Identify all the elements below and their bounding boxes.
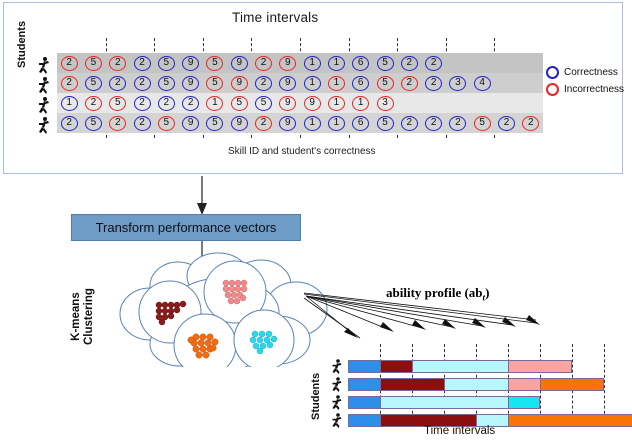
matrix-cell: [519, 53, 543, 73]
matrix-row: 12522215599113: [57, 93, 543, 113]
correct-skill-marker: 2: [255, 76, 272, 91]
correct-skill-marker: 5: [377, 56, 394, 71]
top-time-intervals-title: Time intervals: [232, 10, 318, 25]
ability-bar-segment: [444, 378, 508, 391]
correct-skill-marker: 1: [328, 116, 345, 131]
matrix-cell: 9: [178, 73, 202, 93]
matrix-cell: [421, 93, 445, 113]
ability-bar-segment: [508, 414, 632, 427]
ability-bar-segment: [508, 396, 540, 409]
correct-skill-marker: 5: [255, 96, 272, 111]
matrix-cell: 2: [421, 73, 445, 93]
incorrect-skill-marker: 5: [206, 56, 223, 71]
matrix-cell: 2: [57, 73, 81, 93]
matrix-cell: 2: [251, 113, 275, 133]
matrix-cell: 1: [349, 93, 373, 113]
matrix-cell: 5: [154, 73, 178, 93]
matrix-row: 2522595929116522: [57, 53, 543, 73]
matrix-cell: 2: [178, 93, 202, 113]
incorrect-skill-marker: 3: [377, 96, 394, 111]
correct-skill-marker: 3: [449, 76, 466, 91]
ability-profile-title: ability profile (abt): [386, 285, 489, 303]
ability-bar-segment: [540, 378, 604, 391]
incorrect-skill-marker: 1: [328, 76, 345, 91]
matrix-cell: [494, 93, 518, 113]
correct-skill-marker: 5: [85, 116, 102, 131]
matrix-cell: 2: [251, 53, 275, 73]
cluster-bubble-4: [234, 310, 294, 367]
matrix-cell: [494, 73, 518, 93]
bottom-time-intervals-label: Time intervals: [424, 425, 495, 437]
matrix-caption: Skill ID and student's correctness: [228, 146, 376, 157]
matrix-cell: 9: [178, 113, 202, 133]
matrix-cell: 2: [106, 53, 130, 73]
matrix-cell: 2: [446, 113, 470, 133]
matrix-cell: 5: [154, 113, 178, 133]
matrix-cell: [470, 53, 494, 73]
ability-bar-segment: [348, 396, 380, 409]
matrix-cell: 2: [519, 113, 543, 133]
matrix-cell: 1: [300, 113, 324, 133]
blue-circle-icon: [546, 66, 559, 79]
matrix-cell: 1: [57, 93, 81, 113]
matrix-cell: 5: [227, 93, 251, 113]
correct-skill-marker: 9: [231, 116, 248, 131]
matrix-cell: 9: [300, 93, 324, 113]
matrix-cell: 1: [300, 53, 324, 73]
incorrect-skill-marker: 2: [109, 56, 126, 71]
matrix-cell: 5: [203, 73, 227, 93]
matrix-cell: [397, 93, 421, 113]
correct-skill-marker: 6: [352, 56, 369, 71]
bottom-students-axis-label: Students: [310, 373, 322, 420]
top-student-icon-column: [35, 55, 51, 144]
incorrect-skill-marker: 5: [206, 76, 223, 91]
correct-skill-marker: 9: [279, 116, 296, 131]
correct-skill-marker: 1: [304, 76, 321, 91]
matrix-cell: 9: [227, 113, 251, 133]
ability-bar-segment: [508, 360, 572, 373]
ability-bar-row: [348, 396, 632, 409]
fan-arrowheads: [344, 315, 540, 338]
matrix-cell: 5: [203, 113, 227, 133]
legend-label-incorrectness: Incorrectness: [564, 84, 624, 95]
correctness-legend: Correctness Incorrectness: [546, 64, 624, 98]
correct-skill-marker: 9: [182, 56, 199, 71]
correct-skill-marker: 2: [134, 116, 151, 131]
matrix-cell: 2: [57, 53, 81, 73]
runner-icon-group-bottom: [328, 358, 344, 434]
matrix-cell: 6: [349, 53, 373, 73]
incorrect-skill-marker: 5: [474, 116, 491, 131]
incorrect-skill-marker: 5: [377, 76, 394, 91]
matrix-cell: 6: [349, 113, 373, 133]
correct-skill-marker: 9: [182, 116, 199, 131]
correct-skill-marker: 4: [474, 76, 491, 91]
matrix-cell: 3: [446, 73, 470, 93]
matrix-cell: 5: [203, 53, 227, 73]
legend-label-correctness: Correctness: [564, 67, 618, 78]
matrix-cell: 2: [81, 93, 105, 113]
matrix-cell: 2: [154, 93, 178, 113]
correct-skill-marker: 2: [134, 96, 151, 111]
matrix-cell: 1: [300, 73, 324, 93]
correct-skill-marker: 2: [425, 56, 442, 71]
matrix-cell: 2: [421, 113, 445, 133]
matrix-cell: 5: [373, 73, 397, 93]
matrix-cell: [519, 93, 543, 113]
incorrect-skill-marker: 9: [231, 76, 248, 91]
matrix-cell: 2: [397, 113, 421, 133]
incorrect-skill-marker: 2: [255, 56, 272, 71]
matrix-cell: 9: [276, 73, 300, 93]
matrix-cell: 2: [251, 73, 275, 93]
correct-skill-marker: 9: [231, 56, 248, 71]
correct-skill-marker: 5: [377, 116, 394, 131]
incorrect-skill-marker: 2: [109, 116, 126, 131]
kmeans-label-line2: Clustering: [83, 288, 95, 345]
correct-skill-marker: 1: [61, 96, 78, 111]
matrix-cell: 2: [106, 113, 130, 133]
correct-skill-marker: 5: [85, 76, 102, 91]
ability-profile-title-main: ability profile (ab: [386, 285, 483, 300]
correct-skill-marker: 2: [425, 76, 442, 91]
correct-skill-marker: 6: [352, 116, 369, 131]
matrix-cell: 5: [81, 73, 105, 93]
matrix-cell: [446, 53, 470, 73]
incorrect-skill-marker: 9: [279, 96, 296, 111]
matrix-cell: 2: [106, 73, 130, 93]
ability-bar-row: [348, 378, 632, 391]
incorrect-skill-marker: 2: [255, 116, 272, 131]
correct-skill-marker: 2: [158, 96, 175, 111]
matrix-cell: [494, 53, 518, 73]
matrix-cell: 2: [421, 53, 445, 73]
matrix-cell: 9: [178, 53, 202, 73]
ability-bar-segment: [380, 396, 508, 409]
incorrect-skill-marker: 5: [109, 96, 126, 111]
matrix-cell: 5: [106, 93, 130, 113]
ability-profile-title-end: ): [485, 285, 489, 300]
matrix-cell: 2: [397, 73, 421, 93]
ability-bar-segment: [348, 360, 380, 373]
legend-item-incorrectness: Incorrectness: [546, 81, 624, 98]
matrix-cell: 1: [324, 73, 348, 93]
matrix-cell: 9: [276, 113, 300, 133]
legend-item-correctness: Correctness: [546, 64, 624, 81]
matrix-cell: 4: [470, 73, 494, 93]
correct-skill-marker: 2: [401, 116, 418, 131]
matrix-cell: 9: [276, 53, 300, 73]
correct-skill-marker: 2: [109, 76, 126, 91]
matrix-cell: [446, 93, 470, 113]
matrix-cell: 3: [373, 93, 397, 113]
correct-skill-marker: 1: [304, 116, 321, 131]
ability-bar-segment: [508, 378, 540, 391]
incorrect-skill-marker: 2: [522, 116, 539, 131]
incorrect-skill-marker: 5: [158, 116, 175, 131]
correct-skill-marker: 5: [158, 76, 175, 91]
skill-correctness-matrix: 2522595929116522252259592911652234125222…: [57, 53, 543, 133]
matrix-cell: 2: [130, 53, 154, 73]
matrix-row: 25225959291165222522: [57, 113, 543, 133]
incorrect-skill-marker: 2: [401, 76, 418, 91]
correct-skill-marker: 2: [425, 116, 442, 131]
correct-skill-marker: 5: [158, 56, 175, 71]
correct-skill-marker: 9: [182, 76, 199, 91]
matrix-cell: 6: [349, 73, 373, 93]
matrix-cell: 2: [494, 113, 518, 133]
ability-bar-segment: [380, 378, 444, 391]
correct-skill-marker: 9: [279, 76, 296, 91]
bottom-student-icon-column: [328, 358, 344, 439]
matrix-cell: [470, 93, 494, 113]
matrix-cell: [519, 73, 543, 93]
incorrect-skill-marker: 1: [206, 96, 223, 111]
matrix-cell: 9: [227, 73, 251, 93]
matrix-cell: 2: [130, 113, 154, 133]
matrix-cell: 1: [324, 93, 348, 113]
matrix-cell: 5: [470, 113, 494, 133]
correct-skill-marker: 2: [134, 76, 151, 91]
ability-bar-segment: [348, 414, 380, 427]
incorrect-skill-marker: 1: [352, 96, 369, 111]
correct-skill-marker: 6: [352, 76, 369, 91]
matrix-row: 252259592911652234: [57, 73, 543, 93]
matrix-cell: 2: [397, 53, 421, 73]
matrix-cell: 2: [130, 73, 154, 93]
incorrect-skill-marker: 9: [279, 56, 296, 71]
red-circle-icon: [546, 83, 559, 96]
matrix-cell: 5: [373, 113, 397, 133]
matrix-cell: 2: [57, 113, 81, 133]
runner-icon-group: [35, 55, 51, 139]
correct-skill-marker: 1: [304, 56, 321, 71]
matrix-cell: 9: [227, 53, 251, 73]
matrix-cell: 1: [324, 53, 348, 73]
matrix-cell: 1: [324, 113, 348, 133]
correct-skill-marker: 2: [182, 96, 199, 111]
correct-skill-marker: 2: [449, 116, 466, 131]
kmeans-clustering-label: K-means Clustering: [70, 288, 96, 345]
matrix-cell: 5: [373, 53, 397, 73]
correct-skill-marker: 2: [134, 56, 151, 71]
matrix-cell: 5: [154, 53, 178, 73]
correct-skill-marker: 5: [206, 116, 223, 131]
incorrect-skill-marker: 5: [85, 56, 102, 71]
transform-performance-vectors-box[interactable]: Transform performance vectors: [71, 214, 301, 241]
incorrect-skill-marker: 2: [61, 56, 78, 71]
incorrect-skill-marker: 5: [231, 96, 248, 111]
top-students-axis-label: Students: [16, 21, 28, 68]
matrix-cell: 5: [81, 53, 105, 73]
incorrect-skill-marker: 1: [328, 96, 345, 111]
matrix-cell: 5: [251, 93, 275, 113]
incorrect-skill-marker: 2: [61, 76, 78, 91]
matrix-cell: 2: [130, 93, 154, 113]
correct-skill-marker: 1: [328, 56, 345, 71]
ability-bar-segment: [412, 360, 508, 373]
matrix-cell: 5: [81, 113, 105, 133]
incorrect-skill-marker: 2: [85, 96, 102, 111]
matrix-cell: 1: [203, 93, 227, 113]
ability-bar-segment: [348, 378, 380, 391]
ability-bar-row: [348, 360, 632, 373]
ability-bar-segment: [380, 360, 412, 373]
correct-skill-marker: 2: [401, 56, 418, 71]
matrix-cell: 9: [276, 93, 300, 113]
correct-skill-marker: 2: [498, 116, 515, 131]
kmeans-label-line1: K-means: [70, 292, 82, 341]
ability-profile-bars: [348, 360, 632, 432]
incorrect-skill-marker: 9: [304, 96, 321, 111]
correct-skill-marker: 2: [61, 116, 78, 131]
